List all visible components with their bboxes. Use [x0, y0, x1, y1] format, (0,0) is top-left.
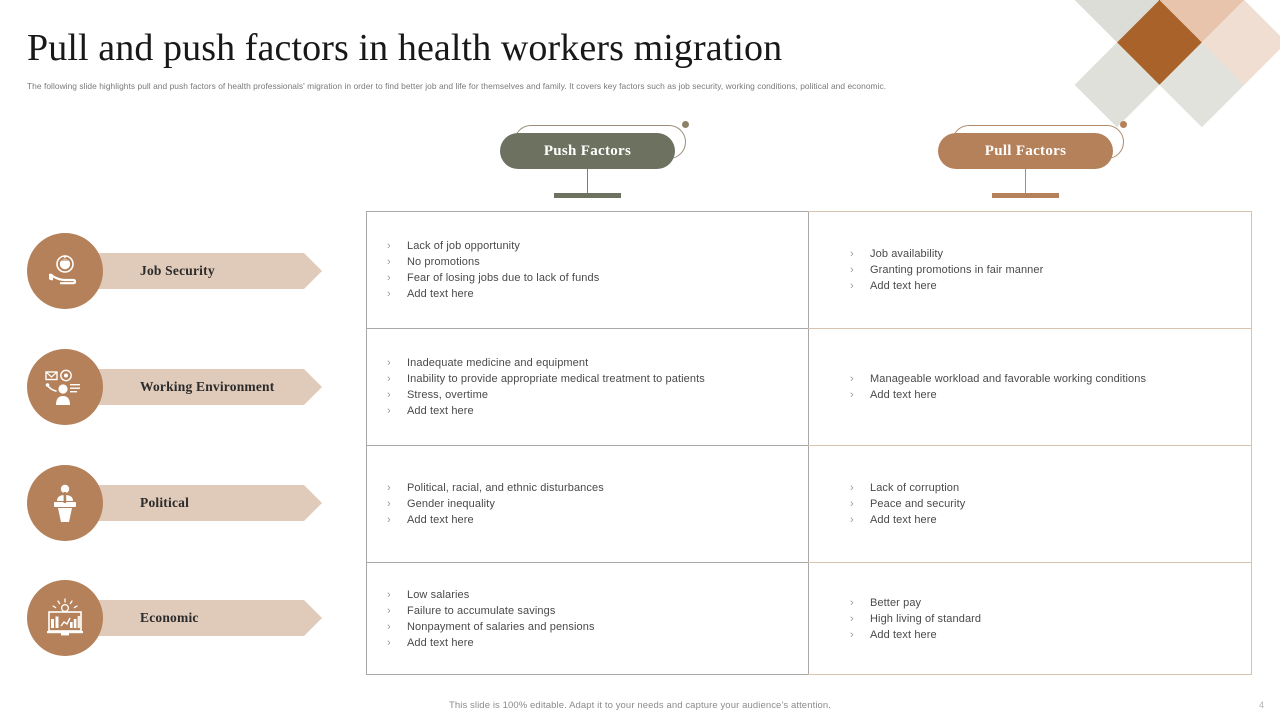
- monitor-chart-icon: [44, 597, 86, 639]
- category-icon-circle: [27, 349, 103, 425]
- list-item: ›Failure to accumulate savings: [387, 603, 794, 619]
- chevron-bullet-icon: ›: [387, 270, 407, 286]
- chevron-bullet-icon: ›: [387, 619, 407, 635]
- list-item: ›Add text here: [850, 387, 1237, 403]
- table-cell: ›Inadequate medicine and equipment ›Inab…: [366, 328, 809, 445]
- list-item: ›No promotions: [387, 254, 794, 270]
- chevron-bullet-icon: ›: [850, 262, 870, 278]
- slide: Pull and push factors in health workers …: [0, 0, 1280, 720]
- list-item: ›Low salaries: [387, 587, 794, 603]
- push-pill[interactable]: Push Factors: [500, 133, 675, 169]
- communication-worker-icon: [44, 366, 86, 408]
- chevron-bullet-icon: ›: [387, 635, 407, 651]
- category-label: Job Security: [140, 253, 215, 289]
- category-label: Economic: [140, 600, 199, 636]
- pull-pill[interactable]: Pull Factors: [938, 133, 1113, 169]
- chevron-bullet-icon: ›: [850, 595, 870, 611]
- chevron-bullet-icon: ›: [850, 512, 870, 528]
- chevron-bullet-icon: ›: [387, 512, 407, 528]
- chevron-bullet-icon: ›: [850, 278, 870, 294]
- list-item: ›Political, racial, and ethnic disturban…: [387, 480, 794, 496]
- table-cell: ›Political, racial, and ethnic disturban…: [366, 445, 809, 562]
- list-item: ›Inadequate medicine and equipment: [387, 355, 794, 371]
- push-connector-base: [554, 193, 621, 198]
- chevron-bullet-icon: ›: [387, 387, 407, 403]
- chevron-bullet-icon: ›: [387, 371, 407, 387]
- chevron-bullet-icon: ›: [850, 611, 870, 627]
- list-item: ›Add text here: [850, 512, 1237, 528]
- chevron-bullet-icon: ›: [387, 355, 407, 371]
- push-connector-stem: [587, 169, 588, 195]
- list-item: ›Stress, overtime: [387, 387, 794, 403]
- list-item: ›Gender inequality: [387, 496, 794, 512]
- pull-connector-base: [992, 193, 1059, 198]
- push-column: ›Lack of job opportunity ›No promotions …: [366, 211, 809, 675]
- decorative-diamond-pattern: [954, 0, 1280, 210]
- chevron-bullet-icon: ›: [387, 480, 407, 496]
- page-title: Pull and push factors in health workers …: [27, 26, 782, 70]
- list-item: ›Add text here: [850, 627, 1237, 643]
- chevron-bullet-icon: ›: [387, 254, 407, 270]
- chevron-bullet-icon: ›: [850, 246, 870, 262]
- table-cell: ›Lack of corruption ›Peace and security …: [808, 445, 1252, 562]
- factors-table: ›Lack of job opportunity ›No promotions …: [366, 211, 1252, 675]
- chevron-bullet-icon: ›: [387, 403, 407, 419]
- chevron-bullet-icon: ›: [387, 238, 407, 254]
- category-label: Political: [140, 485, 189, 521]
- list-item: ›Fear of losing jobs due to lack of fund…: [387, 270, 794, 286]
- table-cell: ›Job availability ›Granting promotions i…: [808, 211, 1252, 328]
- chevron-bullet-icon: ›: [387, 587, 407, 603]
- category-banner: [86, 600, 322, 636]
- list-item: ›High living of standard: [850, 611, 1237, 627]
- category-banner: [86, 485, 322, 521]
- list-item: ›Lack of corruption: [850, 480, 1237, 496]
- list-item: ›Manageable workload and favorable worki…: [850, 371, 1237, 387]
- table-cell: ›Manageable workload and favorable worki…: [808, 328, 1252, 445]
- chevron-bullet-icon: ›: [387, 603, 407, 619]
- list-item: ›Lack of job opportunity: [387, 238, 794, 254]
- hand-holding-person-icon: [45, 251, 85, 291]
- footer-note: This slide is 100% editable. Adapt it to…: [0, 700, 1280, 711]
- table-cell: ›Better pay ›High living of standard ›Ad…: [808, 562, 1252, 675]
- list-item: ›Add text here: [387, 286, 794, 302]
- table-cell: ›Low salaries ›Failure to accumulate sav…: [366, 562, 809, 675]
- chevron-bullet-icon: ›: [850, 496, 870, 512]
- list-item: ›Peace and security: [850, 496, 1237, 512]
- list-item: ›Granting promotions in fair manner: [850, 262, 1237, 278]
- podium-speaker-icon: [47, 483, 83, 523]
- page-subtitle: The following slide highlights pull and …: [27, 80, 927, 94]
- list-item: ›Job availability: [850, 246, 1237, 262]
- chevron-bullet-icon: ›: [387, 286, 407, 302]
- list-item: ›Add text here: [387, 635, 794, 651]
- category-job-security[interactable]: Job Security: [27, 233, 322, 309]
- push-pill-dot: [682, 121, 689, 128]
- list-item: ›Better pay: [850, 595, 1237, 611]
- category-economic[interactable]: Economic: [27, 580, 322, 656]
- table-cell: ›Lack of job opportunity ›No promotions …: [366, 211, 809, 328]
- chevron-bullet-icon: ›: [850, 387, 870, 403]
- list-item: ›Add text here: [387, 403, 794, 419]
- category-label: Working Environment: [140, 369, 274, 405]
- list-item: ›Inability to provide appropriate medica…: [387, 371, 794, 387]
- pull-connector-stem: [1025, 169, 1026, 195]
- category-icon-circle: [27, 580, 103, 656]
- category-icon-circle: [27, 465, 103, 541]
- chevron-bullet-icon: ›: [850, 480, 870, 496]
- pull-pill-dot: [1120, 121, 1127, 128]
- chevron-bullet-icon: ›: [387, 496, 407, 512]
- category-political[interactable]: Political: [27, 465, 322, 541]
- list-item: ›Add text here: [850, 278, 1237, 294]
- chevron-bullet-icon: ›: [850, 627, 870, 643]
- pull-column: ›Job availability ›Granting promotions i…: [808, 211, 1252, 675]
- list-item: ›Add text here: [387, 512, 794, 528]
- chevron-bullet-icon: ›: [850, 371, 870, 387]
- page-number: 4: [1259, 700, 1264, 710]
- list-item: ›Nonpayment of salaries and pensions: [387, 619, 794, 635]
- category-icon-circle: [27, 233, 103, 309]
- category-working-environment[interactable]: Working Environment: [27, 349, 322, 425]
